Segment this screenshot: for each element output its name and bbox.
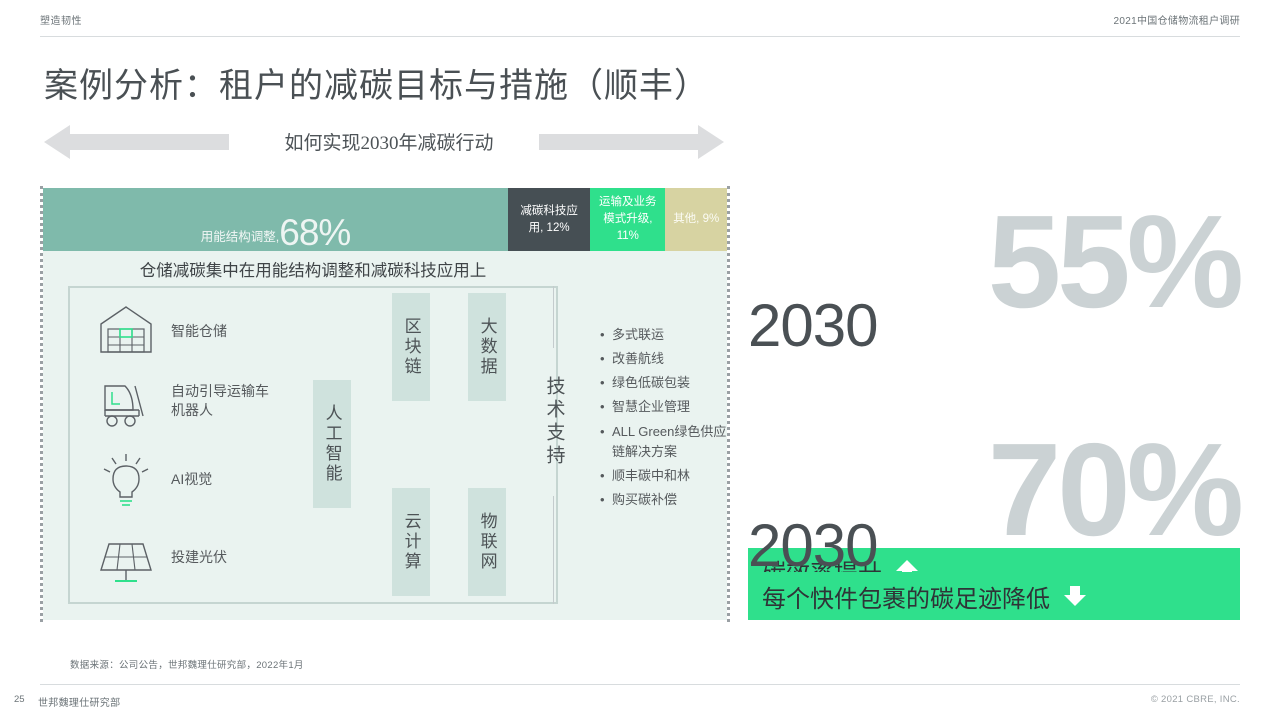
list-item-text: 顺丰碳中和林	[612, 466, 690, 486]
icon-row-smart-warehouse: 智能仓储	[95, 302, 227, 360]
agv-label-line2: 机器人	[171, 402, 213, 418]
arrow-right-icon	[539, 125, 724, 159]
icon-row-agv-robot-label: 自动引导运输车 机器人	[171, 382, 269, 420]
tech-chip-blockchain: 区块链	[392, 293, 430, 401]
list-item: •智慧企业管理	[600, 397, 728, 417]
bar-segment-transport-label: 运输及业务 模式升级, 11%	[590, 194, 665, 244]
tech-support-label: 技术支持	[539, 352, 569, 492]
stat-block-carbon-footprint: 70% 2030 每个快件包裹的碳足迹降低	[748, 424, 1240, 614]
solar-panel-icon	[95, 528, 157, 586]
tech-chip-bigdata: 大数据	[468, 293, 506, 401]
bar-segment-transport-value: 模式升级, 11%	[603, 213, 652, 242]
bullet-dot-icon: •	[600, 397, 612, 417]
bar-segment-tech-label: 减碳科技应 用, 12%	[518, 203, 580, 236]
agv-label-line1: 自动引导运输车	[171, 383, 269, 399]
bar-segment-transport: 运输及业务 模式升级, 11%	[590, 188, 665, 251]
source-note: 数据来源：公司公告，世邦魏理仕研究部，2022年1月	[70, 657, 304, 671]
header-divider	[40, 36, 1240, 37]
stat-year-2030-top: 2030	[748, 296, 877, 356]
list-item: •顺丰碳中和林	[600, 466, 728, 486]
slide-header: 塑造韧性 2021中国仓储物流租户调研	[40, 12, 1240, 34]
subtitle-text: 如何实现2030年减碳行动	[254, 128, 524, 155]
subtitle-arrow-band: 如何实现2030年减碳行动	[44, 122, 724, 162]
icon-row-solar-label: 投建光伏	[171, 548, 227, 567]
list-item: •绿色低碳包装	[600, 373, 728, 393]
footer-copyright: © 2021 CBRE, INC.	[1151, 694, 1240, 705]
icon-row-ai-vision: AI视觉	[95, 450, 212, 508]
header-right-text: 2021中国仓储物流租户调研	[1114, 12, 1240, 27]
stat-block-carbon-efficiency: 55% 2030 碳效率提升	[748, 196, 1240, 396]
bullet-dot-icon: •	[600, 490, 612, 510]
stat-percent-70: 70%	[988, 424, 1240, 556]
bar-segment-tech-value: 用, 12%	[529, 222, 570, 234]
page-title: 案例分析：租户的减碳目标与措施（顺丰）	[44, 58, 709, 107]
chart-caption: 仓储减碳集中在用能结构调整和减碳科技应用上	[43, 254, 583, 284]
stat-bar-text-carbon-footprint: 每个快件包裹的碳足迹降低	[762, 579, 1050, 614]
list-item-text: ALL Green绿色供应链解决方案	[612, 422, 728, 462]
arrow-down-icon	[1062, 583, 1088, 609]
bar-segment-tech: 减碳科技应 用, 12%	[508, 188, 590, 251]
tech-support-line-top	[553, 286, 554, 348]
tech-support-line-bottom	[553, 496, 554, 604]
icon-row-solar: 投建光伏	[95, 528, 227, 586]
footer-left-text: 世邦魏理仕研究部	[38, 694, 120, 709]
stacked-bar-chart: 用能结构调整, 68% 减碳科技应 用, 12% 运输及业务 模式升级, 11%…	[43, 188, 727, 251]
bar-segment-other: 其他, 9%	[665, 188, 727, 251]
stat-year-2030-bottom: 2030	[748, 516, 877, 576]
bar-segment-transport-name: 运输及业务	[599, 196, 657, 208]
list-item: •改善航线	[600, 349, 728, 369]
bullet-dot-icon: •	[600, 466, 612, 486]
list-item-text: 智慧企业管理	[612, 397, 690, 417]
bullet-dot-icon: •	[600, 373, 612, 393]
slide-root: 塑造韧性 2021中国仓储物流租户调研 案例分析：租户的减碳目标与措施（顺丰） …	[0, 0, 1280, 720]
measures-bullet-list: •多式联运 •改善航线 •绿色低碳包装 •智慧企业管理 •ALL Green绿色…	[600, 325, 728, 514]
stat-bar-carbon-footprint: 每个快件包裹的碳足迹降低	[748, 572, 1240, 620]
bullet-dot-icon: •	[600, 422, 612, 462]
list-item: •多式联运	[600, 325, 728, 345]
list-item-text: 绿色低碳包装	[612, 373, 690, 393]
icon-row-agv-robot: 自动引导运输车 机器人	[95, 372, 269, 430]
lightbulb-icon	[95, 450, 157, 508]
list-item: •ALL Green绿色供应链解决方案	[600, 422, 728, 462]
page-number: 25	[14, 694, 25, 705]
list-item-text: 购买碳补偿	[612, 490, 677, 510]
tech-chip-cloud: 云计算	[392, 488, 430, 596]
arrow-left-icon	[44, 125, 229, 159]
header-left-text: 塑造韧性	[40, 12, 82, 27]
list-item-text: 改善航线	[612, 349, 664, 369]
icon-row-ai-vision-label: AI视觉	[171, 470, 212, 489]
bar-segment-energy-name: 用能结构调整,	[201, 226, 279, 251]
bar-segment-energy: 用能结构调整, 68%	[43, 188, 508, 251]
bar-segment-other-label: 其他, 9%	[671, 211, 721, 228]
agv-robot-icon	[95, 372, 157, 430]
list-item-text: 多式联运	[612, 325, 664, 345]
bullet-dot-icon: •	[600, 325, 612, 345]
warehouse-icon	[95, 302, 157, 360]
stat-percent-55: 55%	[988, 196, 1240, 328]
bullet-dot-icon: •	[600, 349, 612, 369]
footer-divider	[40, 684, 1240, 685]
list-item: •购买碳补偿	[600, 490, 728, 510]
tech-chip-iot: 物联网	[468, 488, 506, 596]
icon-row-smart-warehouse-label: 智能仓储	[171, 322, 227, 341]
bar-segment-tech-name: 减碳科技应	[520, 205, 578, 217]
tech-chip-ai: 人工智能	[313, 380, 351, 508]
bar-segment-energy-value: 68%	[279, 214, 350, 251]
